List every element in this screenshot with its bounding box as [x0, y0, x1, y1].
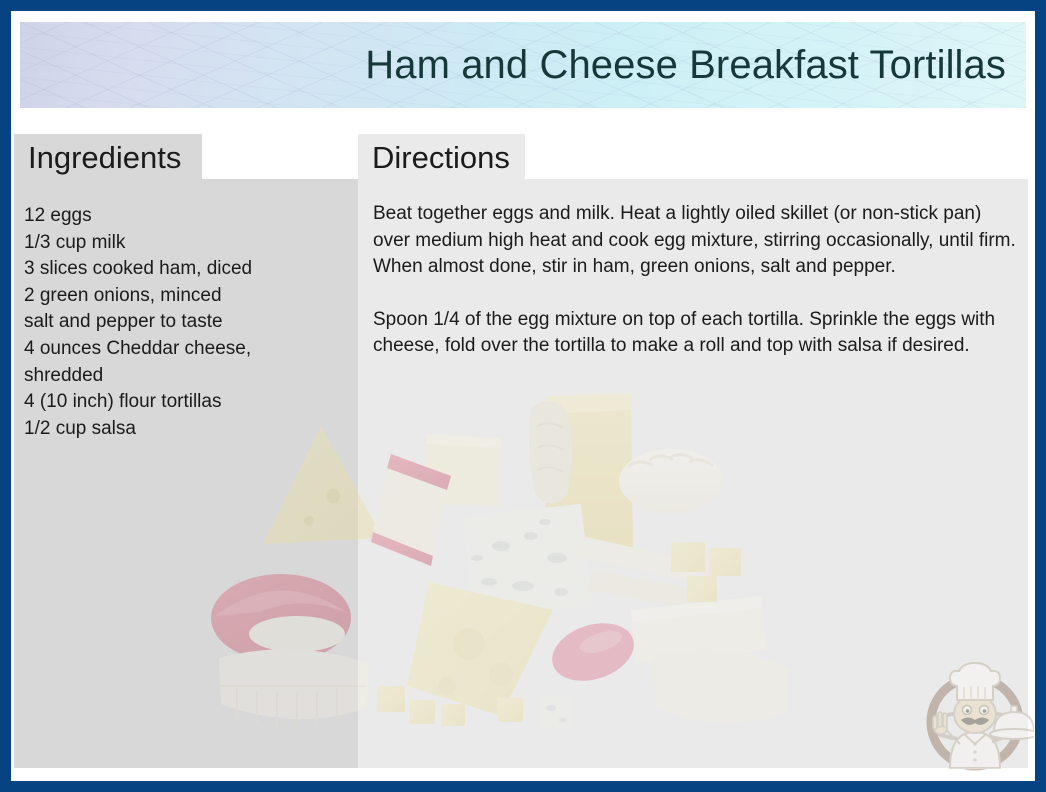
directions-panel: Beat together eggs and milk. Heat a ligh…: [358, 179, 1028, 768]
list-item: shredded: [24, 363, 354, 390]
list-item: salt and pepper to taste: [24, 309, 354, 336]
directions-body: Beat together eggs and milk. Heat a ligh…: [373, 201, 1018, 360]
directions-tab: Directions: [358, 134, 525, 179]
ingredients-tab: Ingredients: [14, 134, 202, 179]
directions-paragraph: Spoon 1/4 of the egg mixture on top of e…: [373, 307, 1018, 360]
list-item: 4 ounces Cheddar cheese,: [24, 336, 354, 363]
list-item: 1/2 cup salsa: [24, 416, 354, 443]
ingredients-list: 12 eggs 1/3 cup milk 3 slices cooked ham…: [24, 203, 354, 442]
list-item: 1/3 cup milk: [24, 230, 354, 257]
list-item: 2 green onions, minced: [24, 283, 354, 310]
list-item: 3 slices cooked ham, diced: [24, 256, 354, 283]
recipe-card-slide: Ham and Cheese Breakfast Tortillas Ingre…: [11, 11, 1035, 781]
page-title: Ham and Cheese Breakfast Tortillas: [365, 45, 1006, 85]
list-item: 12 eggs: [24, 203, 354, 230]
ingredients-panel: 12 eggs 1/3 cup milk 3 slices cooked ham…: [14, 179, 358, 768]
list-item: 4 (10 inch) flour tortillas: [24, 389, 354, 416]
title-banner: Ham and Cheese Breakfast Tortillas: [20, 22, 1026, 108]
directions-paragraph: Beat together eggs and milk. Heat a ligh…: [373, 201, 1018, 281]
